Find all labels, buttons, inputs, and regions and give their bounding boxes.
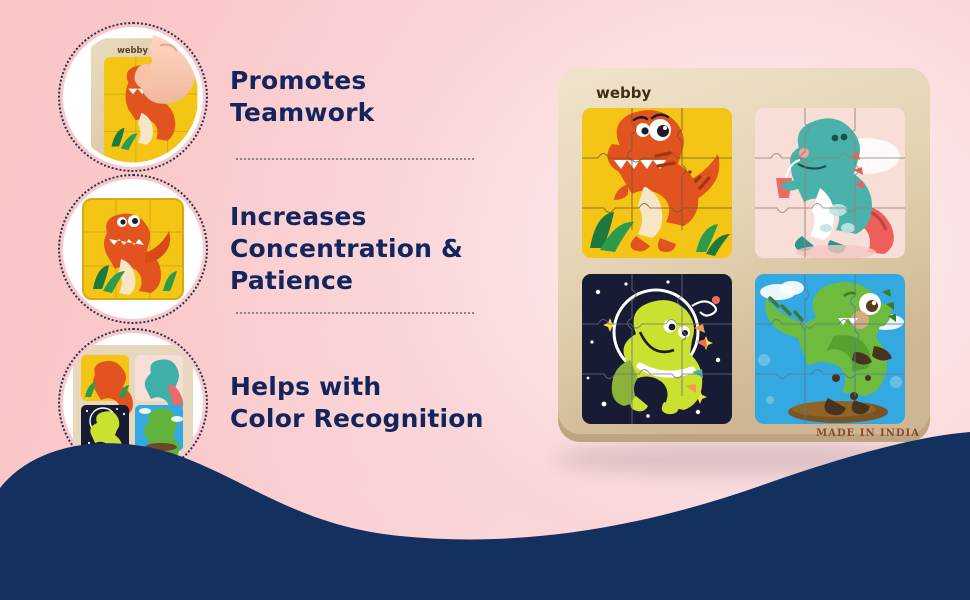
brand-label: webby [596,84,652,102]
feature-list: webby [0,0,500,470]
marketing-banner: webby [0,0,970,600]
puzzle-panel-teal-dino[interactable] [755,108,905,259]
footer-wave [0,410,970,600]
puzzle-panel-green-trex[interactable] [755,274,905,424]
feature-thumbnail-hand-placing-puzzle-piece: webby [58,22,208,172]
feature-divider-2 [236,312,474,314]
wooden-puzzle-board: webby [548,60,940,470]
puzzle-panel-orange-trex[interactable] [582,108,732,258]
feature-item-increases-concentration: Increases Concentration & Patience [58,174,463,324]
feature-divider-1 [236,158,474,160]
feature-thumbnail-yellow-trex-puzzle [58,174,208,324]
feature-label-increases-concentration: Increases Concentration & Patience [230,201,463,297]
puzzle-panel-space-dino[interactable] [582,274,732,424]
dotted-ring [58,174,208,324]
feature-label-promotes-teamwork: Promotes Teamwork [230,65,374,129]
dotted-ring [58,22,208,172]
feature-item-promotes-teamwork: webby [58,22,374,172]
